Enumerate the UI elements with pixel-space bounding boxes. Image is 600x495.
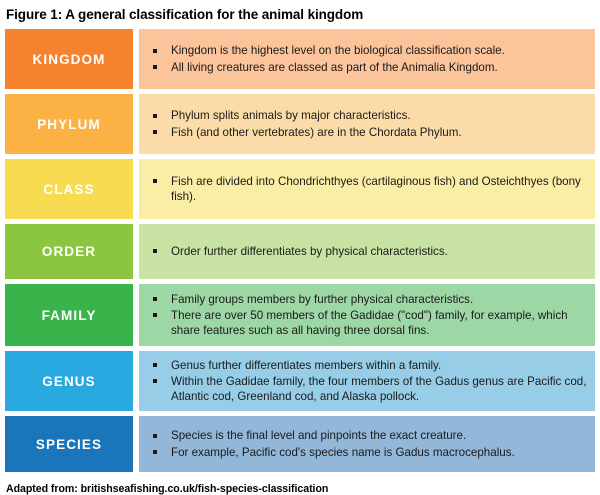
- rank-label-text: CLASS: [43, 182, 94, 197]
- list-item-text: All living creatures are classed as part…: [171, 61, 498, 74]
- rank-description-family: Family groups members by further physica…: [139, 284, 595, 346]
- list-item: Phylum splits animals by major character…: [149, 108, 587, 123]
- square-bullet-icon: [153, 65, 157, 69]
- square-bullet-icon: [153, 434, 157, 438]
- classification-rows: KINGDOMKingdom is the highest level on t…: [5, 29, 595, 477]
- square-bullet-icon: [153, 114, 157, 118]
- source-note: Adapted from: britishseafishing.co.uk/fi…: [5, 477, 595, 495]
- list-item: Order further differentiates by physical…: [149, 244, 587, 259]
- rank-label-text: SPECIES: [36, 437, 102, 452]
- list-item-text: Phylum splits animals by major character…: [171, 109, 411, 122]
- square-bullet-icon: [153, 297, 157, 301]
- rank-description-class: Fish are divided into Chondrichthyes (ca…: [139, 159, 595, 219]
- list-item-text: Fish are divided into Chondrichthyes (ca…: [171, 175, 581, 203]
- rank-label-text: FAMILY: [42, 308, 97, 323]
- list-item-text: Fish (and other vertebrates) are in the …: [171, 126, 462, 139]
- page-title: Figure 1: A general classification for t…: [5, 0, 595, 29]
- rank-row: FAMILYFamily groups members by further p…: [5, 284, 595, 346]
- rank-label-family: FAMILY: [5, 284, 133, 346]
- classification-figure: Figure 1: A general classification for t…: [0, 0, 600, 494]
- rank-label-species: SPECIES: [5, 416, 133, 472]
- square-bullet-icon: [153, 313, 157, 317]
- list-item: Species is the final level and pinpoints…: [149, 428, 587, 443]
- list-item-text: Within the Gadidae family, the four memb…: [171, 375, 586, 403]
- bullet-list: Genus further differentiates members wit…: [149, 358, 587, 405]
- rank-description-species: Species is the final level and pinpoints…: [139, 416, 595, 472]
- bullet-list: Phylum splits animals by major character…: [149, 108, 587, 139]
- list-item: Fish (and other vertebrates) are in the …: [149, 125, 587, 140]
- list-item: Family groups members by further physica…: [149, 292, 587, 307]
- square-bullet-icon: [153, 179, 157, 183]
- square-bullet-icon: [153, 379, 157, 383]
- rank-label-genus: GENUS: [5, 351, 133, 411]
- list-item-text: Genus further differentiates members wit…: [171, 359, 441, 372]
- rank-label-text: PHYLUM: [37, 117, 101, 132]
- list-item-text: There are over 50 members of the Gadidae…: [171, 309, 568, 337]
- list-item: Kingdom is the highest level on the biol…: [149, 43, 587, 58]
- rank-label-text: GENUS: [42, 374, 96, 389]
- list-item: Within the Gadidae family, the four memb…: [149, 374, 587, 404]
- bullet-list: Fish are divided into Chondrichthyes (ca…: [149, 174, 587, 204]
- rank-label-text: ORDER: [42, 244, 96, 259]
- square-bullet-icon: [153, 363, 157, 367]
- list-item-text: Family groups members by further physica…: [171, 293, 473, 306]
- list-item: For example, Pacific cod's species name …: [149, 445, 587, 460]
- rank-label-order: ORDER: [5, 224, 133, 279]
- rank-row: ORDEROrder further differentiates by phy…: [5, 224, 595, 279]
- rank-row: GENUSGenus further differentiates member…: [5, 351, 595, 411]
- rank-label-text: KINGDOM: [33, 52, 106, 67]
- rank-label-kingdom: KINGDOM: [5, 29, 133, 89]
- rank-row: KINGDOMKingdom is the highest level on t…: [5, 29, 595, 89]
- list-item: All living creatures are classed as part…: [149, 60, 587, 75]
- rank-row: CLASSFish are divided into Chondrichthye…: [5, 159, 595, 219]
- rank-description-kingdom: Kingdom is the highest level on the biol…: [139, 29, 595, 89]
- list-item: There are over 50 members of the Gadidae…: [149, 308, 587, 338]
- list-item-text: Kingdom is the highest level on the biol…: [171, 44, 505, 57]
- list-item: Fish are divided into Chondrichthyes (ca…: [149, 174, 587, 204]
- bullet-list: Species is the final level and pinpoints…: [149, 428, 587, 459]
- rank-row: SPECIESSpecies is the final level and pi…: [5, 416, 595, 472]
- rank-description-order: Order further differentiates by physical…: [139, 224, 595, 279]
- rank-row: PHYLUMPhylum splits animals by major cha…: [5, 94, 595, 154]
- square-bullet-icon: [153, 249, 157, 253]
- rank-description-phylum: Phylum splits animals by major character…: [139, 94, 595, 154]
- bullet-list: Order further differentiates by physical…: [149, 244, 587, 259]
- square-bullet-icon: [153, 130, 157, 134]
- square-bullet-icon: [153, 49, 157, 53]
- square-bullet-icon: [153, 450, 157, 454]
- list-item: Genus further differentiates members wit…: [149, 358, 587, 373]
- bullet-list: Family groups members by further physica…: [149, 292, 587, 339]
- rank-label-class: CLASS: [5, 159, 133, 219]
- rank-description-genus: Genus further differentiates members wit…: [139, 351, 595, 411]
- list-item-text: Species is the final level and pinpoints…: [171, 429, 466, 442]
- rank-label-phylum: PHYLUM: [5, 94, 133, 154]
- bullet-list: Kingdom is the highest level on the biol…: [149, 43, 587, 74]
- list-item-text: Order further differentiates by physical…: [171, 245, 448, 258]
- list-item-text: For example, Pacific cod's species name …: [171, 446, 515, 459]
